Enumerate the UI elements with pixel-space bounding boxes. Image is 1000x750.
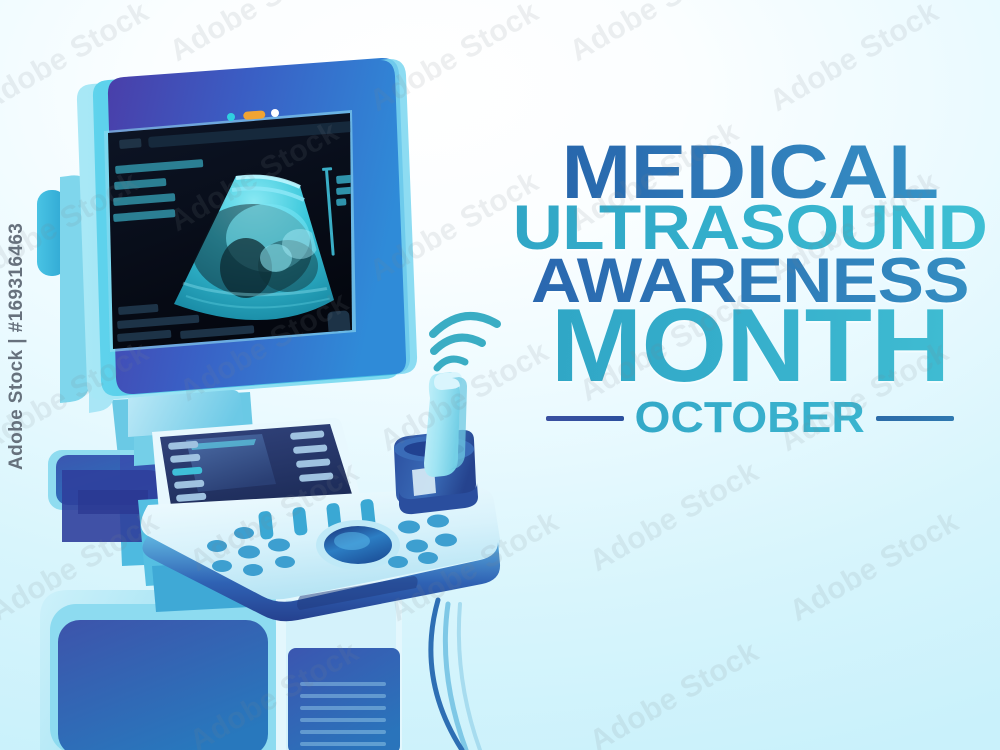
status-led-cyan — [227, 113, 235, 121]
monitor — [77, 58, 417, 400]
watermark-tile: Adobe Stock — [764, 0, 945, 119]
divider-rule-right — [876, 416, 954, 421]
probe-cable — [431, 600, 480, 750]
divider-rule-left — [546, 416, 624, 421]
status-led-white — [271, 109, 279, 117]
headline-block: MEDICAL ULTRASOUND AWARENESS MONTH OCTOB… — [530, 140, 970, 630]
headline-line-month: MONTH — [517, 302, 983, 391]
watermark-tile: Adobe Stock — [584, 635, 765, 750]
trackball — [316, 520, 400, 570]
watermark-tile: Adobe Stock — [564, 0, 745, 69]
ultrasound-machine-illustration — [0, 0, 540, 750]
subtitle-october: OCTOBER — [635, 393, 865, 443]
ultrasound-waves — [433, 316, 497, 368]
poster-canvas: MEDICAL ULTRASOUND AWARENESS MONTH OCTOB… — [0, 0, 1000, 750]
